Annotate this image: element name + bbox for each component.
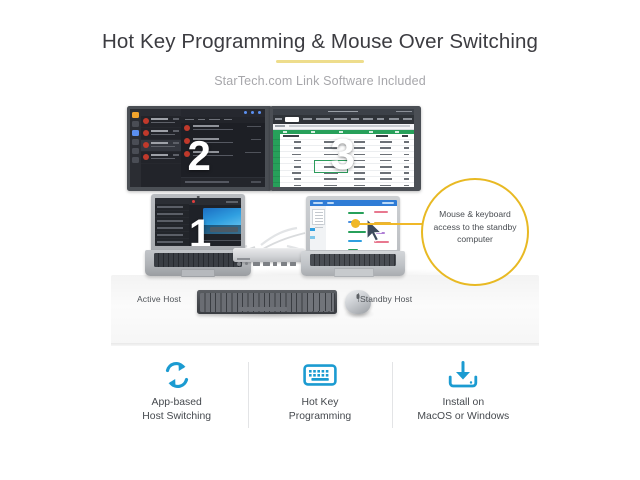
label-standby-host: Standby Host [360, 294, 412, 304]
infographic-page: Hot Key Programming & Mouse Over Switchi… [0, 0, 640, 480]
feature-divider [392, 362, 393, 428]
spreadsheet-row-headers [273, 134, 280, 187]
feature-install-on-macos-or-windows: Install on MacOS or Windows [392, 358, 535, 438]
feature-label: Hot Key Programming [289, 396, 351, 423]
laptop-standby-host[interactable] [301, 196, 405, 280]
monitor-right-bezel: 3 [270, 106, 421, 191]
callout-text: Mouse & keyboard access to the standby c… [430, 208, 520, 246]
monitor-left-bezel: 2 [127, 106, 272, 191]
sidebar-tag [310, 236, 315, 239]
title-accent-rule [276, 60, 364, 63]
feature-divider [248, 362, 249, 428]
page-subtitle: StarTech.com Link Software Included [0, 74, 640, 88]
download-tray-icon [447, 358, 479, 392]
laptop-active-trackpad[interactable] [181, 269, 215, 277]
dock-logo [237, 258, 250, 260]
wireless-keyboard[interactable] [197, 290, 337, 314]
monitor-right[interactable]: 3 [270, 106, 421, 191]
desk-edge [111, 343, 539, 346]
monitor-left-screen: 2 [130, 109, 265, 187]
rail-icon-5 [132, 148, 139, 154]
conference-toolbar [189, 198, 241, 205]
rail-icon-4 [132, 139, 139, 145]
laptop-standby-base [301, 251, 405, 276]
chat-topbar [181, 109, 265, 117]
feature-label: App-based Host Switching [142, 396, 211, 423]
sidebar-tag [310, 228, 315, 231]
keyboard-numpad [308, 293, 334, 311]
spreadsheet-ribbon [273, 115, 414, 124]
chat-conversation-list [141, 109, 181, 187]
document-card-icon [312, 209, 325, 225]
callout-connector-line [357, 223, 427, 225]
link-software-sidebar [310, 206, 327, 250]
keyboard-spacebar [239, 307, 287, 310]
feature-label: Install on MacOS or Windows [417, 396, 509, 423]
chat-list-header [141, 109, 181, 116]
conference-participant-list [155, 198, 189, 246]
feature-app-based-host-switching: App-based Host Switching [105, 358, 248, 438]
laptop-active-host[interactable]: 1 [145, 194, 251, 280]
rail-icon-3 [132, 130, 139, 136]
feature-strip: App-based Host Switching [105, 358, 535, 438]
laptop-active-lid: 1 [151, 194, 245, 252]
rail-icon-1 [132, 112, 139, 118]
monitor-right-screen: 3 [273, 109, 414, 187]
callout-connector [351, 219, 427, 229]
monitor-left-number: 2 [188, 135, 211, 177]
keyboard-icon [303, 358, 337, 392]
rail-icon-6 [132, 157, 139, 163]
laptop-active-screen: 1 [155, 198, 241, 246]
chat-app-rail [130, 109, 141, 187]
table-row [280, 183, 414, 187]
rail-icon-2 [132, 121, 139, 127]
chat-list-item [141, 140, 181, 152]
monitor-left[interactable]: 2 [127, 106, 272, 191]
chat-list-item [141, 116, 181, 128]
sync-arrows-icon [162, 358, 192, 392]
dock-body [233, 249, 305, 262]
dock-ports [237, 262, 301, 266]
callout-bubble: Mouse & keyboard access to the standby c… [421, 178, 529, 286]
feature-hot-key-programming: Hot Key Programming [248, 358, 391, 438]
laptop-active-number: 1 [189, 214, 211, 246]
page-title: Hot Key Programming & Mouse Over Switchi… [0, 30, 640, 54]
chat-list-item [141, 152, 181, 164]
laptop-standby-keyboard[interactable] [310, 254, 396, 266]
label-active-host: Active Host [137, 294, 181, 304]
laptop-standby-trackpad[interactable] [334, 268, 374, 277]
monitor-right-number: 3 [331, 133, 355, 177]
chat-list-item [141, 128, 181, 140]
laptop-active-keyboard[interactable] [154, 253, 242, 267]
product-scene: 2 [105, 100, 545, 345]
kvm-dock[interactable] [233, 243, 305, 265]
